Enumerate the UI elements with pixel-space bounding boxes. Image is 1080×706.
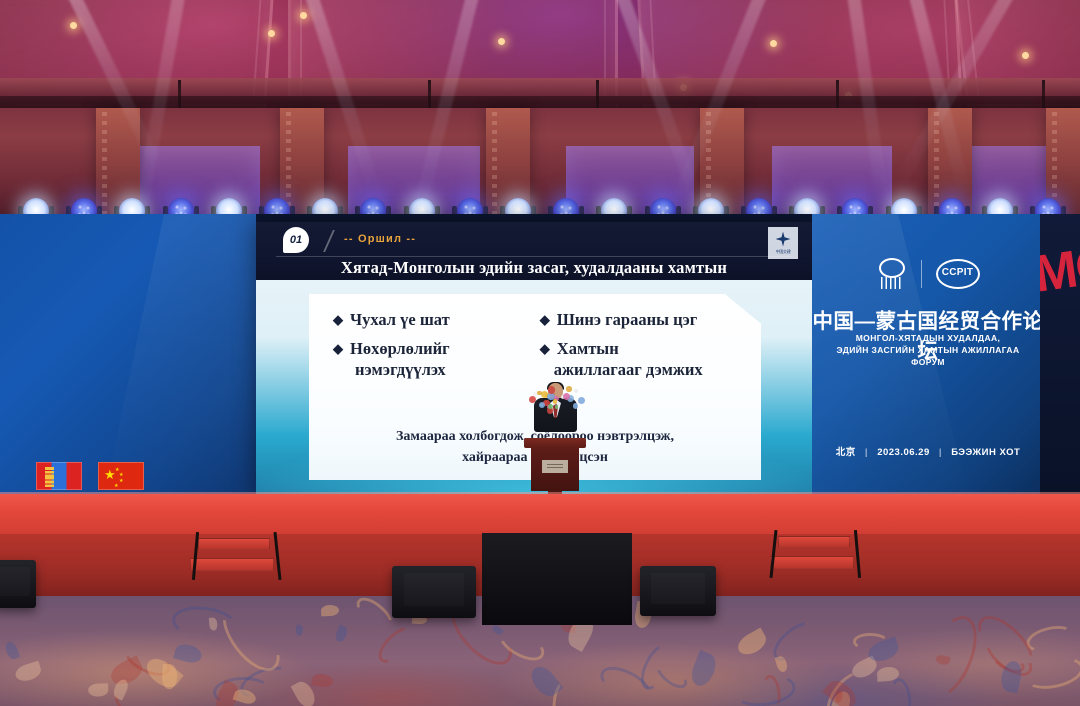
flower [574,389,578,393]
carpet-motif [296,625,304,636]
footer-date: 2023.06.29 [877,447,930,458]
flower [537,391,542,396]
carpet-motif [88,684,108,697]
floor-monitor [0,560,36,608]
floor-monitor [640,566,716,616]
spotlight-beam [669,0,773,210]
carpet-motif [311,672,334,688]
diamond-bullet-icon: ◆ [333,310,343,330]
forum-title-mn: МОНГОЛ-ХЯТАДЫН ХУДАЛДАА, ЭДИЙН ЗАСГИЙН Х… [812,332,1044,368]
stage-stairs-right [768,528,876,584]
footer-city-cn: 北京 [836,447,856,458]
carpet-motif [4,640,21,661]
flower [529,396,536,403]
right-edge-text: МОН [1040,236,1080,298]
flower [566,386,571,391]
floor-monitor [392,566,476,618]
forum-title-mn-line2: ЭДИЙН ЗАСГИЙН ХАМТЫН АЖИЛЛАГАА ФОРУМ [820,344,1036,368]
conference-stage-photo: ★★★ ★★ 韩国明 Han Guoming 中交一公局集团党委书记、董事长 P… [0,0,1080,706]
cccc-logo: 中国交建 [768,227,798,259]
mongolia-flag [36,462,82,490]
carpet-motif [915,608,987,704]
carpet-motif [734,628,769,659]
bullet-list: ◆ Чухал үе шат ◆ Шинэ гарааны цэг [309,294,761,389]
carpet-motif [888,677,913,706]
diamond-bullet-icon: ◆ [540,310,550,330]
bullet-item: ◆ Чухал үе шат [333,310,530,330]
bullet-item: ◆ Нөхөрлөлийг [333,339,530,359]
ccpit-label: CCPIT [936,267,980,278]
right-panel-footer: 北京 | 2023.06.29 | БЭЭЖИН ХОТ [812,444,1044,458]
spotlight-beam [845,0,890,209]
emblem-divider [921,260,922,288]
carpet-motif [173,641,203,664]
compass-icon [776,232,791,247]
footer-separator: | [939,447,942,458]
forum-title-mn-line1: МОНГОЛ-ХЯТАДЫН ХУДАЛДАА, [820,332,1036,344]
header-divider [276,256,792,257]
bullet-item: ◆ Шинэ гарааны цэг [540,310,737,330]
slide-title: Хятад-Монголын эдийн засаг, худалдааны х… [256,258,812,278]
podium-nameplate [542,460,568,473]
badge-slash-decoration [303,230,335,252]
mongolia-chamber-emblem-icon [877,258,907,290]
forum-emblems: CCPIT [812,258,1044,290]
bullet-item: ◆ Хамтын [540,339,737,359]
carpet-motif [351,592,397,636]
carpet-motif [321,605,340,617]
china-flag: ★★★ ★★ [98,462,144,490]
bullet-text: Хамтын [557,339,619,359]
ccpit-logo-icon: CCPIT [936,259,980,289]
bullet-text: Чухал үе шат [350,310,450,330]
diamond-bullet-icon: ◆ [540,339,550,359]
bullet-text: Нөхөрлөлийг [350,339,450,359]
center-riser [482,533,632,625]
carpet-motif [14,660,44,683]
stage-stairs-left [188,530,296,586]
bullet-text: Шинэ гарааны цэг [557,310,697,330]
cccc-logo-cn: 中国交建 [776,249,791,255]
bullet-continuation: ажиллагааг дэмжих [540,359,737,380]
carpet-motif [687,650,719,689]
left-screen-panel: ★★★ ★★ 韩国明 Han Guoming 中交一公局集团党委书记、董事长 P… [0,214,256,496]
footer-separator: | [865,447,868,458]
spotlight-beam [300,0,383,201]
carpet-motif [733,671,798,706]
diamond-bullet-icon: ◆ [333,339,343,359]
footer-city-mn: БЭЭЖИН ХОТ [951,447,1020,458]
bullet-continuation: нэмэгдүүлэх [333,359,530,380]
right-edge-panel: МОН [1040,214,1080,496]
carpet-motif [334,625,349,643]
flower [578,397,585,404]
section-label: -- Оршил -- [344,233,416,245]
